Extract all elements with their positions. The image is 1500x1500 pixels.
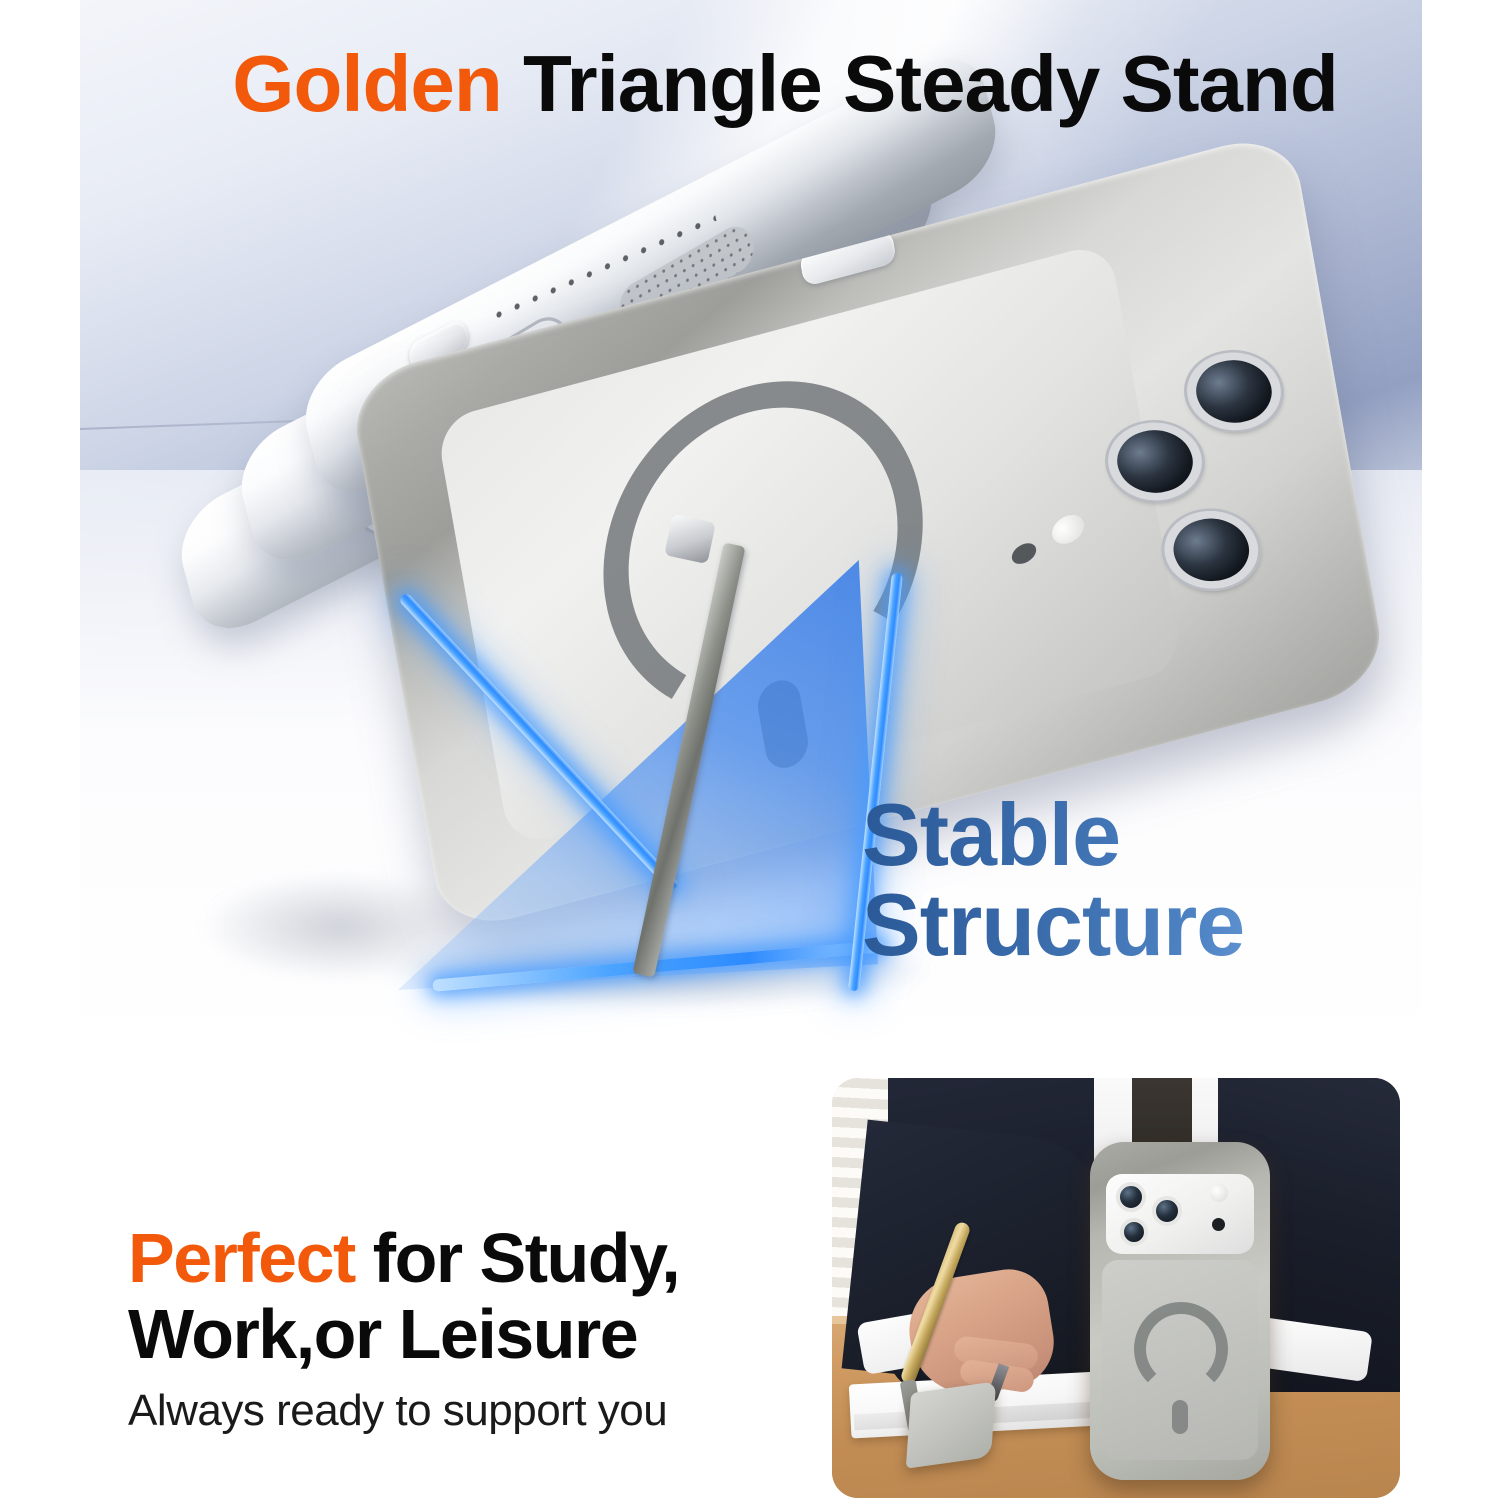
product-marketing-image: Golden Triangle Steady Stand Stable Stru…: [0, 0, 1500, 1500]
hero-headline: Golden Triangle Steady Stand: [140, 38, 1422, 130]
lifestyle-photo: [832, 1078, 1400, 1498]
usecase-headline-accent: Perfect: [128, 1219, 355, 1297]
usecase-headline-rest: for Study,: [355, 1219, 679, 1297]
hero-panel: Golden Triangle Steady Stand Stable Stru…: [80, 0, 1422, 1056]
feature-label: Stable Structure: [862, 790, 1402, 970]
camera-lens-icon: [1120, 1218, 1148, 1246]
flash-icon: [1210, 1184, 1228, 1202]
camera-lens-icon: [1116, 1182, 1146, 1212]
feature-label-line1: Stable: [862, 790, 1402, 880]
camera-lens-icon: [1095, 412, 1215, 511]
kickstand-hinge: [664, 514, 716, 564]
usecase-headline-line1: Perfect for Study,: [128, 1218, 679, 1298]
magsafe-tab-icon: [1172, 1400, 1188, 1434]
magsafe-ring-icon: [1134, 1302, 1228, 1396]
hero-headline-accent: Golden: [232, 39, 502, 128]
photo-kickstand: [906, 1381, 996, 1468]
hero-headline-rest: Triangle Steady Stand: [502, 39, 1338, 128]
camera-lens-icon: [1152, 1196, 1182, 1226]
camera-lens-icon: [1151, 500, 1271, 599]
usecase-subtitle: Always ready to support you: [128, 1386, 667, 1436]
camera-lens-icon: [1174, 342, 1294, 441]
usecase-headline-line2: Work,or Leisure: [128, 1294, 637, 1374]
microphone-icon: [1212, 1218, 1225, 1231]
photo-phone-case: [1090, 1142, 1270, 1480]
feature-label-line2: Structure: [862, 880, 1402, 970]
